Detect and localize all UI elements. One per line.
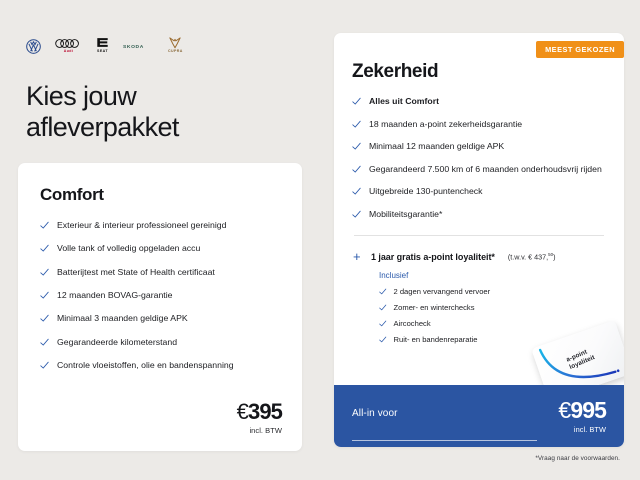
left-column: Audi SEAT SKODA CUPRA Kies j xyxy=(0,0,320,480)
comfort-price-block: €395 incl. BTW xyxy=(237,401,282,435)
check-icon xyxy=(40,314,49,323)
check-icon xyxy=(40,221,49,230)
list-item-label: Volle tank of volledig opgeladen accu xyxy=(57,242,282,254)
page-title-line1: Kies jouw xyxy=(26,81,136,111)
price-amount: 995 xyxy=(570,397,606,423)
check-icon xyxy=(379,288,387,296)
brand-logo-bar: Audi SEAT SKODA CUPRA xyxy=(26,32,183,54)
check-icon xyxy=(352,187,361,196)
list-item-label: Minimaal 12 maanden geldige APK xyxy=(369,140,606,153)
seat-logo-caption: SEAT xyxy=(97,50,108,54)
skoda-logo: SKODA xyxy=(123,43,154,54)
list-item: Minimaal 3 maanden geldige APK xyxy=(40,312,282,324)
check-icon xyxy=(40,291,49,300)
check-icon xyxy=(40,244,49,253)
footnote: *Vraag naar de voorwaarden. xyxy=(535,455,620,462)
section-divider xyxy=(354,235,604,236)
check-icon xyxy=(352,120,361,129)
list-item-label: Uitgebreide 130-puntencheck xyxy=(369,185,606,198)
list-item-label: Ruit- en bandenreparatie xyxy=(394,335,478,345)
list-item: Gegarandeerd 7.500 km of 6 maanden onder… xyxy=(352,163,606,176)
list-item-label: Exterieur & interieur professioneel gere… xyxy=(57,219,282,231)
list-item: Gegarandeerde kilometerstand xyxy=(40,336,282,348)
list-item: Zomer- en winterchecks xyxy=(379,303,606,313)
seat-logo: SEAT xyxy=(96,36,109,54)
cupra-logo: CUPRA xyxy=(168,37,183,54)
status-badge: MEEST GEKOZEN xyxy=(536,41,624,58)
price-row: All-in voor €995 incl. BTW xyxy=(352,399,606,434)
list-item-label: 18 maanden a-point zekerheidsgarantie xyxy=(369,118,606,131)
list-item: Exterieur & interieur professioneel gere… xyxy=(40,219,282,231)
check-icon xyxy=(40,338,49,347)
list-item: Minimaal 12 maanden geldige APK xyxy=(352,140,606,153)
list-item: Mobiliteitsgarantie* xyxy=(352,208,606,221)
zekerheid-title: Zekerheid xyxy=(352,61,606,83)
check-icon xyxy=(352,97,361,106)
check-icon xyxy=(379,304,387,312)
cupra-logo-caption: CUPRA xyxy=(168,50,183,54)
footer-rule xyxy=(352,440,537,441)
list-item-label: 2 dagen vervangend vervoer xyxy=(394,287,491,297)
volkswagen-logo xyxy=(26,39,41,54)
list-item: Uitgebreide 130-puntencheck xyxy=(352,185,606,198)
list-item-label: Controle vloeistoffen, olie en bandenspa… xyxy=(57,359,282,371)
list-item-label: Gegarandeerde kilometerstand xyxy=(57,336,282,348)
comfort-price: €395 xyxy=(237,401,282,423)
loyalty-title: 1 jaar gratis a-point loyaliteit* xyxy=(371,252,495,262)
comfort-price-note: incl. BTW xyxy=(237,426,282,435)
check-icon xyxy=(379,336,387,344)
loyalty-note-suffix: ) xyxy=(553,253,555,262)
price-amount: 395 xyxy=(248,399,282,424)
page-title: Kies jouw afleverpakket xyxy=(26,81,306,142)
comfort-package-card[interactable]: Comfort Exterieur & interieur profession… xyxy=(18,163,302,451)
list-item-label: Zomer- en winterchecks xyxy=(394,303,475,313)
loyalty-note-prefix: (t.w.v. € 437, xyxy=(508,253,548,262)
zekerheid-package-card[interactable]: MEEST GEKOZEN Zekerheid Alles uit Comfor… xyxy=(334,33,624,447)
check-icon xyxy=(40,361,49,370)
list-item-label: Batterijtest met State of Health certifi… xyxy=(57,266,282,278)
list-item: 18 maanden a-point zekerheidsgarantie xyxy=(352,118,606,131)
check-icon xyxy=(352,210,361,219)
currency-symbol: € xyxy=(237,399,248,424)
list-item: 2 dagen vervangend vervoer xyxy=(379,287,606,297)
list-item: Batterijtest met State of Health certifi… xyxy=(40,266,282,278)
page-title-line2: afleverpakket xyxy=(26,112,179,142)
loyalty-value-note: (t.w.v. € 437,50) xyxy=(508,252,556,261)
plus-icon: + xyxy=(353,250,363,263)
svg-text:SKODA: SKODA xyxy=(123,44,144,50)
comfort-feature-list: Exterieur & interieur professioneel gere… xyxy=(40,219,282,371)
audi-logo-caption: Audi xyxy=(64,50,74,54)
zekerheid-price-block: €995 incl. BTW xyxy=(558,399,606,434)
promo-page: Audi SEAT SKODA CUPRA Kies j xyxy=(0,0,640,480)
included-label: Inclusief xyxy=(379,271,606,280)
list-item-label: Minimaal 3 maanden geldige APK xyxy=(57,312,282,324)
currency-symbol: € xyxy=(558,397,570,423)
list-item: 12 maanden BOVAG-garantie xyxy=(40,289,282,301)
list-item-label: Mobiliteitsgarantie* xyxy=(369,208,606,221)
audi-logo: Audi xyxy=(55,38,82,54)
check-icon xyxy=(379,320,387,328)
zekerheid-price: €995 xyxy=(558,399,606,422)
list-item: Aircocheck xyxy=(379,319,606,329)
loyalty-headline-row: + 1 jaar gratis a-point loyaliteit* (t.w… xyxy=(353,249,606,262)
all-in-label: All-in voor xyxy=(352,399,398,419)
list-item-label: Alles uit Comfort xyxy=(369,95,606,108)
check-icon xyxy=(352,142,361,151)
zekerheid-body: MEEST GEKOZEN Zekerheid Alles uit Comfor… xyxy=(334,33,624,346)
check-icon xyxy=(40,268,49,277)
zekerheid-price-footer: All-in voor €995 incl. BTW xyxy=(334,385,624,447)
list-item: Controle vloeistoffen, olie en bandenspa… xyxy=(40,359,282,371)
list-item-label: Gegarandeerd 7.500 km of 6 maanden onder… xyxy=(369,163,606,176)
zekerheid-price-note: incl. BTW xyxy=(558,425,606,434)
list-item-label: Aircocheck xyxy=(394,319,431,329)
check-icon xyxy=(352,165,361,174)
list-item-label: 12 maanden BOVAG-garantie xyxy=(57,289,282,301)
list-item: Alles uit Comfort xyxy=(352,95,606,108)
comfort-title: Comfort xyxy=(40,185,282,205)
list-item: Volle tank of volledig opgeladen accu xyxy=(40,242,282,254)
